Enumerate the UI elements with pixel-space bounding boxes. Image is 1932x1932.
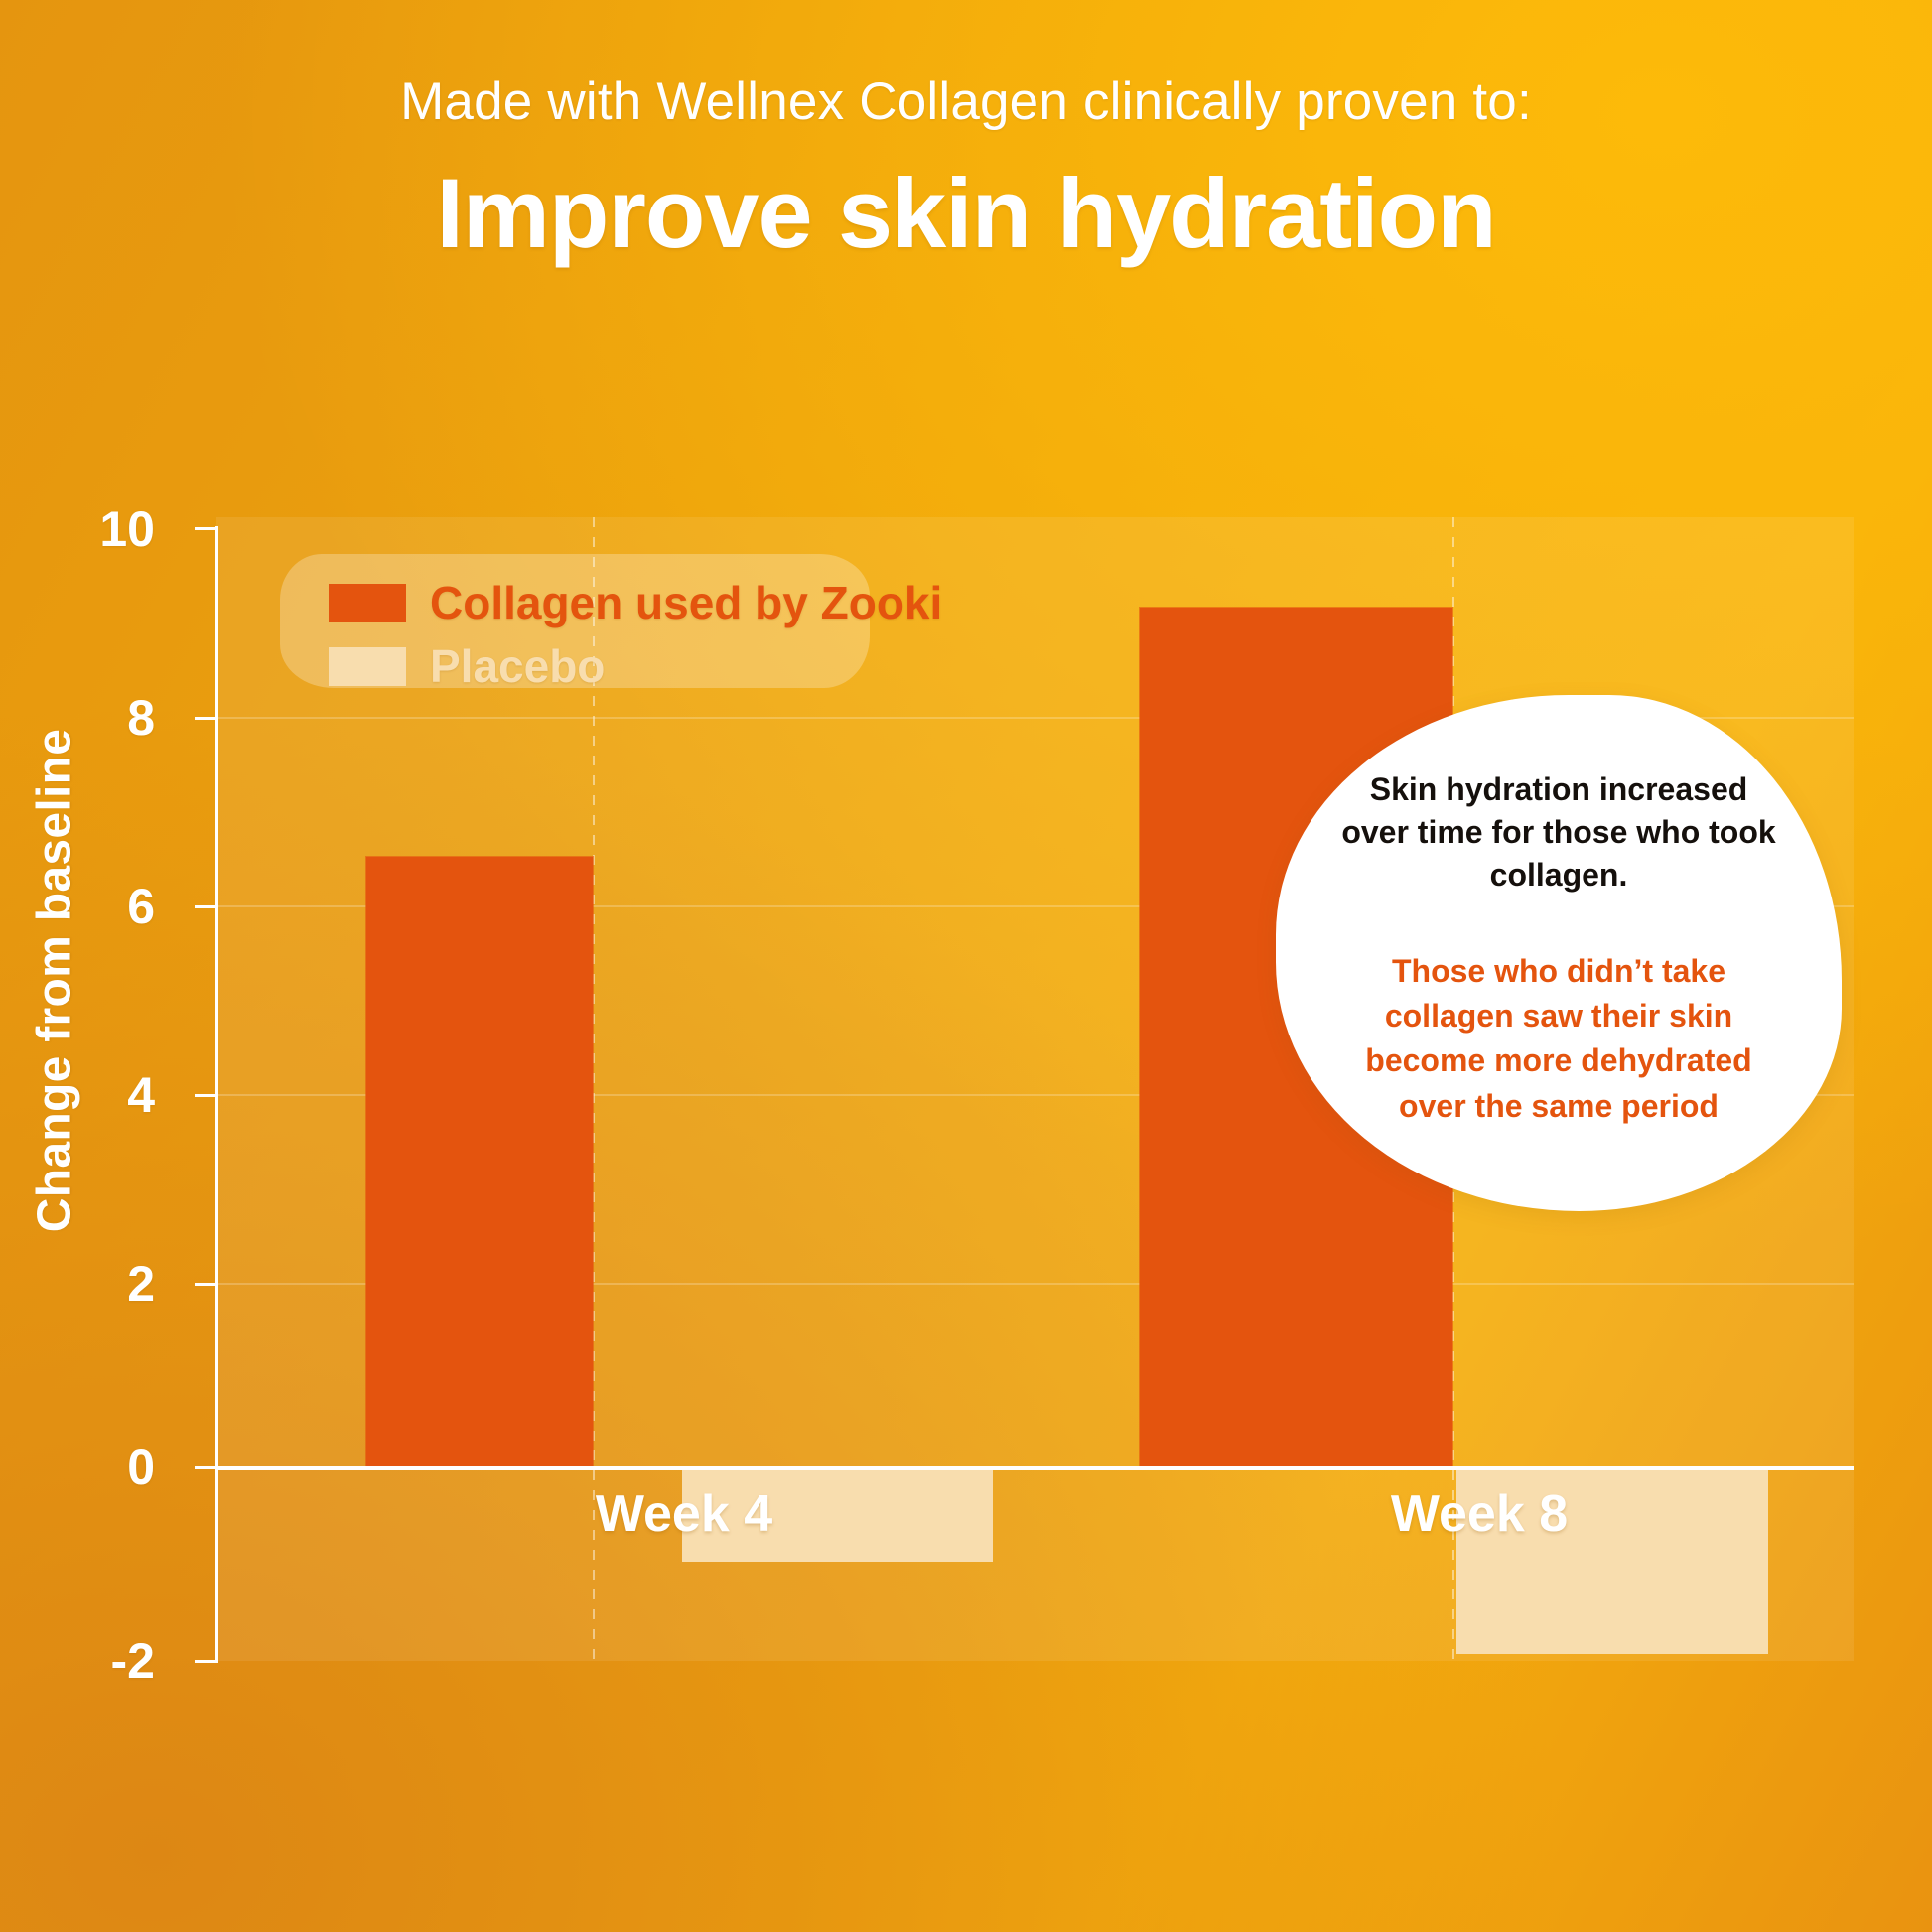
x-tick-label-week4: Week 4 — [596, 1484, 772, 1544]
y-tick-8 — [195, 717, 218, 720]
y-tick-2 — [195, 1283, 218, 1286]
x-tick-label-week8: Week 8 — [1391, 1484, 1568, 1544]
callout-paragraph-primary: Skin hydration increased over time for t… — [1337, 768, 1780, 897]
y-tick-label-10: 10 — [16, 500, 155, 558]
y-tick-neg2 — [195, 1660, 218, 1663]
poster-background: Made with Wellnex Collagen clinically pr… — [0, 0, 1932, 1932]
zero-baseline — [216, 1466, 1854, 1470]
chart-legend: Collagen used by Zooki Placebo — [280, 554, 870, 688]
y-tick-label-neg2: -2 — [16, 1632, 155, 1690]
y-tick-label-0: 0 — [16, 1439, 155, 1496]
legend-item-collagen: Collagen used by Zooki — [329, 576, 942, 629]
y-tick-6 — [195, 905, 218, 908]
callout-content: Skin hydration increased over time for t… — [1337, 768, 1780, 1129]
legend-swatch-collagen — [329, 584, 406, 622]
legend-label-placebo: Placebo — [430, 639, 605, 693]
legend-swatch-placebo — [329, 647, 406, 686]
y-tick-label-2: 2 — [16, 1255, 155, 1312]
legend-item-placebo: Placebo — [329, 639, 605, 693]
bar-collagen-week4 — [366, 857, 593, 1467]
callout-bubble: Skin hydration increased over time for t… — [1276, 695, 1842, 1211]
legend-label-collagen: Collagen used by Zooki — [430, 576, 942, 629]
callout-paragraph-secondary: Those who didn’t take collagen saw their… — [1337, 949, 1780, 1130]
y-tick-4 — [195, 1094, 218, 1097]
bar-chart: 10 8 6 4 2 0 -2 Change from baseline Wee… — [0, 0, 1932, 1932]
y-tick-10 — [195, 527, 218, 530]
y-tick-0 — [195, 1466, 218, 1469]
y-axis-title: Change from baseline — [28, 723, 82, 1239]
